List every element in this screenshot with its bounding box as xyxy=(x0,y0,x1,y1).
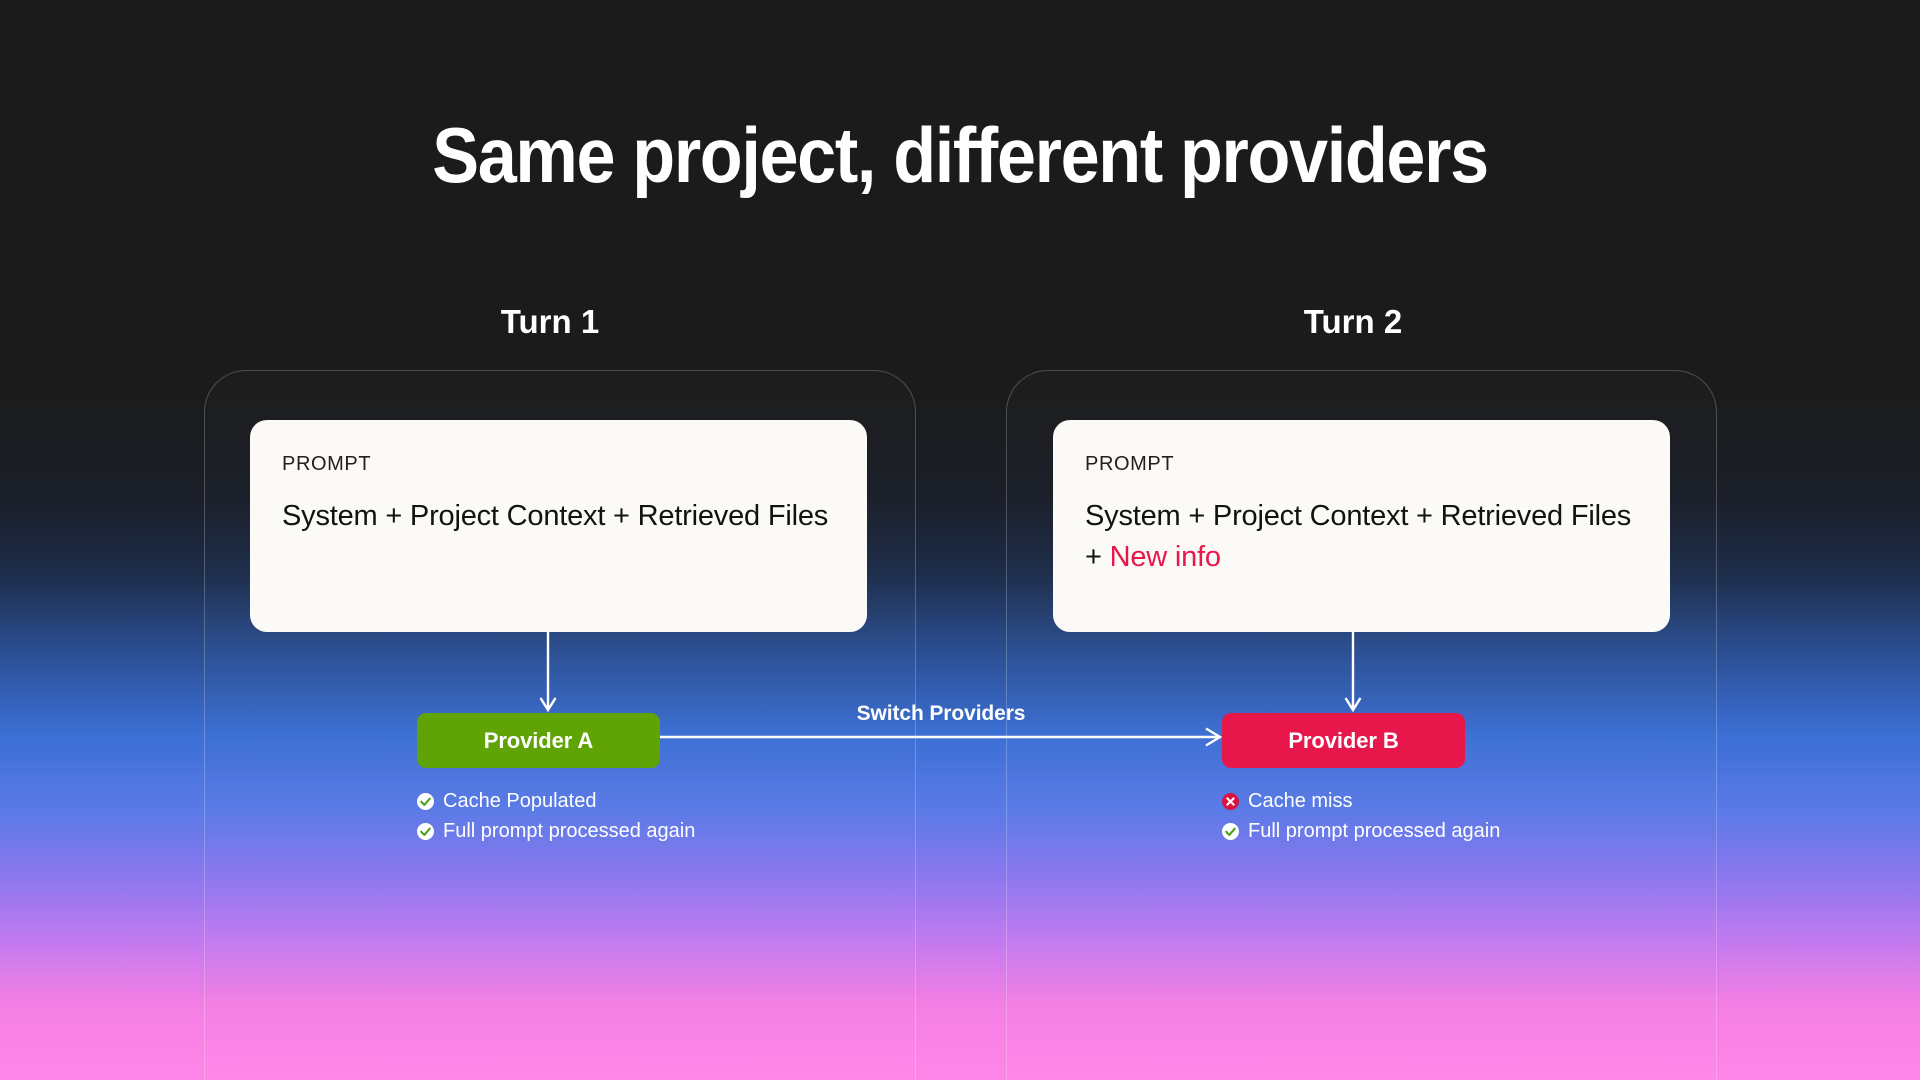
prompt-kicker: PROMPT xyxy=(282,454,835,474)
check-circle-icon xyxy=(1222,823,1239,840)
list-item: Cache miss xyxy=(1222,786,1500,816)
provider-a-button[interactable]: Provider A xyxy=(417,713,660,768)
turn-2-label: Turn 2 xyxy=(1223,303,1483,341)
turn-2-status-list: Cache miss Full prompt processed again xyxy=(1222,786,1500,846)
diagram-canvas: Same project, different providers Turn 1… xyxy=(0,0,1920,1080)
list-item: Full prompt processed again xyxy=(1222,816,1500,846)
arrow-down-icon xyxy=(536,632,560,714)
check-circle-icon xyxy=(417,793,434,810)
x-circle-icon xyxy=(1222,793,1239,810)
turn-1-prompt-card: PROMPT System + Project Context + Retrie… xyxy=(250,420,867,632)
prompt-body: System + Project Context + Retrieved Fil… xyxy=(1085,496,1638,578)
prompt-kicker: PROMPT xyxy=(1085,454,1638,474)
list-item-label: Cache miss xyxy=(1248,786,1352,816)
prompt-body-main: System + Project Context + Retrieved Fil… xyxy=(282,500,828,532)
page-title: Same project, different providers xyxy=(96,110,1824,201)
list-item: Full prompt processed again xyxy=(417,816,695,846)
switch-providers-label: Switch Providers xyxy=(660,702,1222,726)
turn-1-label: Turn 1 xyxy=(420,303,680,341)
arrow-right-icon xyxy=(660,724,1224,750)
list-item-label: Full prompt processed again xyxy=(1248,816,1500,846)
prompt-body: System + Project Context + Retrieved Fil… xyxy=(282,496,835,537)
provider-b-button[interactable]: Provider B xyxy=(1222,713,1465,768)
list-item: Cache Populated xyxy=(417,786,695,816)
turn-1-status-list: Cache Populated Full prompt processed ag… xyxy=(417,786,695,846)
check-circle-icon xyxy=(417,823,434,840)
turn-2-prompt-card: PROMPT System + Project Context + Retrie… xyxy=(1053,420,1670,632)
list-item-label: Full prompt processed again xyxy=(443,816,695,846)
list-item-label: Cache Populated xyxy=(443,786,596,816)
prompt-body-highlight: New info xyxy=(1110,541,1221,573)
arrow-down-icon xyxy=(1341,632,1365,714)
